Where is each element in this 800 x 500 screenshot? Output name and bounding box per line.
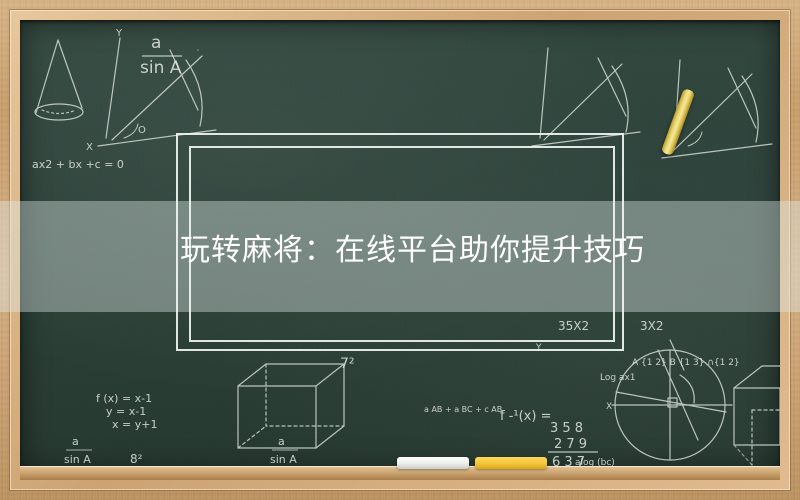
chalk-set-notation: A {1 2} B {1 3} ∩{1 2} — [632, 358, 740, 368]
chalk-fraction-denominator-3: sin A — [270, 453, 297, 466]
chalk-multiply-label-1: 35X2 — [558, 319, 589, 333]
protractor-diagram — [532, 48, 640, 146]
chalk-sum-row-2: 2 7 9 — [554, 437, 587, 452]
chalk-log-label: Log ax1 — [600, 373, 636, 383]
chalk-axis-label-x: X — [86, 142, 93, 153]
chalk-axis-label-x-right: X — [606, 402, 612, 412]
chalk-sum-row-1: 3 5 8 — [550, 421, 583, 436]
chalk-fraction-numerator: a — [151, 33, 161, 53]
chalk-fraction-denominator: sin A — [140, 58, 182, 78]
chalk-inverse-function: f -¹(x) = — [500, 409, 551, 424]
cube-drawing-right — [734, 366, 780, 465]
chalk-fraction-numerator-2: a — [72, 435, 79, 448]
angle-diagram — [98, 38, 216, 146]
chalk-quadratic-equation: ax2 + bx +c = 0 — [32, 158, 124, 171]
chalk-function-line-3: x = y+1 — [112, 418, 157, 431]
page-title: 玩转麻将：在线平台助你提升技巧 — [180, 228, 632, 274]
chalk-axis-label-y-right: Y — [535, 343, 542, 353]
yellow-chalk-icon — [475, 457, 547, 469]
chalk-small-equation: a AB + a BC + c AB — [424, 405, 502, 414]
chalk-axis-label-y: Y — [115, 28, 123, 39]
chalk-fraction-numerator-3: a — [278, 435, 285, 448]
chalk-function-line-1: f (x) = x-1 — [96, 392, 152, 405]
chalk-exponent-label-2: 8² — [130, 452, 143, 466]
white-chalk-icon — [397, 457, 469, 469]
chalk-fraction-denominator-2: sin A — [64, 453, 91, 466]
chalk-angle-label: O — [138, 125, 146, 136]
cube-drawing — [238, 364, 344, 448]
circle-diagram — [612, 340, 732, 460]
cone-drawing — [35, 40, 83, 120]
chalk-function-line-2: y = x-1 — [106, 405, 146, 418]
blackboard-title-card: a sin A Y X O ax2 + bx +c = 0 f (x) = x-… — [0, 0, 800, 500]
chalk-exponent-label: 7² — [340, 356, 355, 372]
chalk-multiply-label-2: 3X2 — [640, 319, 664, 333]
